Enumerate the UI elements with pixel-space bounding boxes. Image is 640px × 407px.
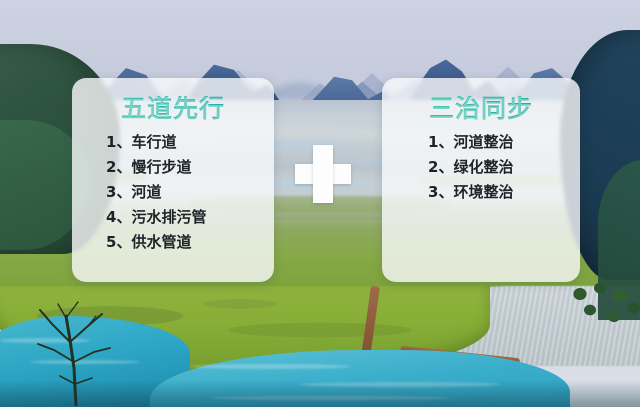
list-item: 2 、 慢行步道 [106,160,274,175]
item-separator: 、 [438,135,453,150]
item-label: 污水排污管 [131,210,206,225]
item-separator: 、 [116,235,131,250]
list-item: 3 、 河道 [106,185,274,200]
right-tree-cluster [566,278,640,348]
infographic-stage: 五道先行 1 、 车行道 2 、 慢行步道 3 、 河道 4 、 污水排污管 [0,0,640,407]
panel-left-title: 五道先行 [72,96,274,121]
list-item: 2 、 绿化整治 [428,160,580,175]
item-label: 供水管道 [131,235,191,250]
list-item: 3 、 环境整治 [428,185,580,200]
panel-left-item-list: 1 、 车行道 2 、 慢行步道 3 、 河道 4 、 污水排污管 5 、 [72,135,274,250]
list-item: 5 、 供水管道 [106,235,274,250]
list-item: 1 、 河道整治 [428,135,580,150]
panel-right-item-list: 1 、 河道整治 2 、 绿化整治 3 、 环境整治 [382,135,580,200]
list-item: 1 、 车行道 [106,135,274,150]
item-label: 环境整治 [453,185,513,200]
item-separator: 、 [438,185,453,200]
item-label: 河道整治 [453,135,513,150]
item-separator: 、 [116,135,131,150]
item-separator: 、 [116,185,131,200]
plus-vertical-bar [313,145,333,203]
item-index: 4 [106,210,116,225]
item-index: 1 [428,135,438,150]
item-index: 2 [106,160,116,175]
panel-wudao-xianxing[interactable]: 五道先行 1 、 车行道 2 、 慢行步道 3 、 河道 4 、 污水排污管 [72,78,274,282]
item-separator: 、 [116,210,131,225]
item-index: 5 [106,235,116,250]
item-index: 2 [428,160,438,175]
panel-sanzhi-tongbu[interactable]: 三治同步 1 、 河道整治 2 、 绿化整治 3 、 环境整治 [382,78,580,282]
item-label: 绿化整治 [453,160,513,175]
plus-icon [295,145,351,203]
item-label: 慢行步道 [131,160,191,175]
item-index: 1 [106,135,116,150]
bottom-vignette [0,380,640,407]
item-separator: 、 [116,160,131,175]
panel-right-title: 三治同步 [382,96,580,121]
item-label: 河道 [131,185,161,200]
item-label: 车行道 [131,135,176,150]
item-index: 3 [106,185,116,200]
item-index: 3 [428,185,438,200]
item-separator: 、 [438,160,453,175]
list-item: 4 、 污水排污管 [106,210,274,225]
